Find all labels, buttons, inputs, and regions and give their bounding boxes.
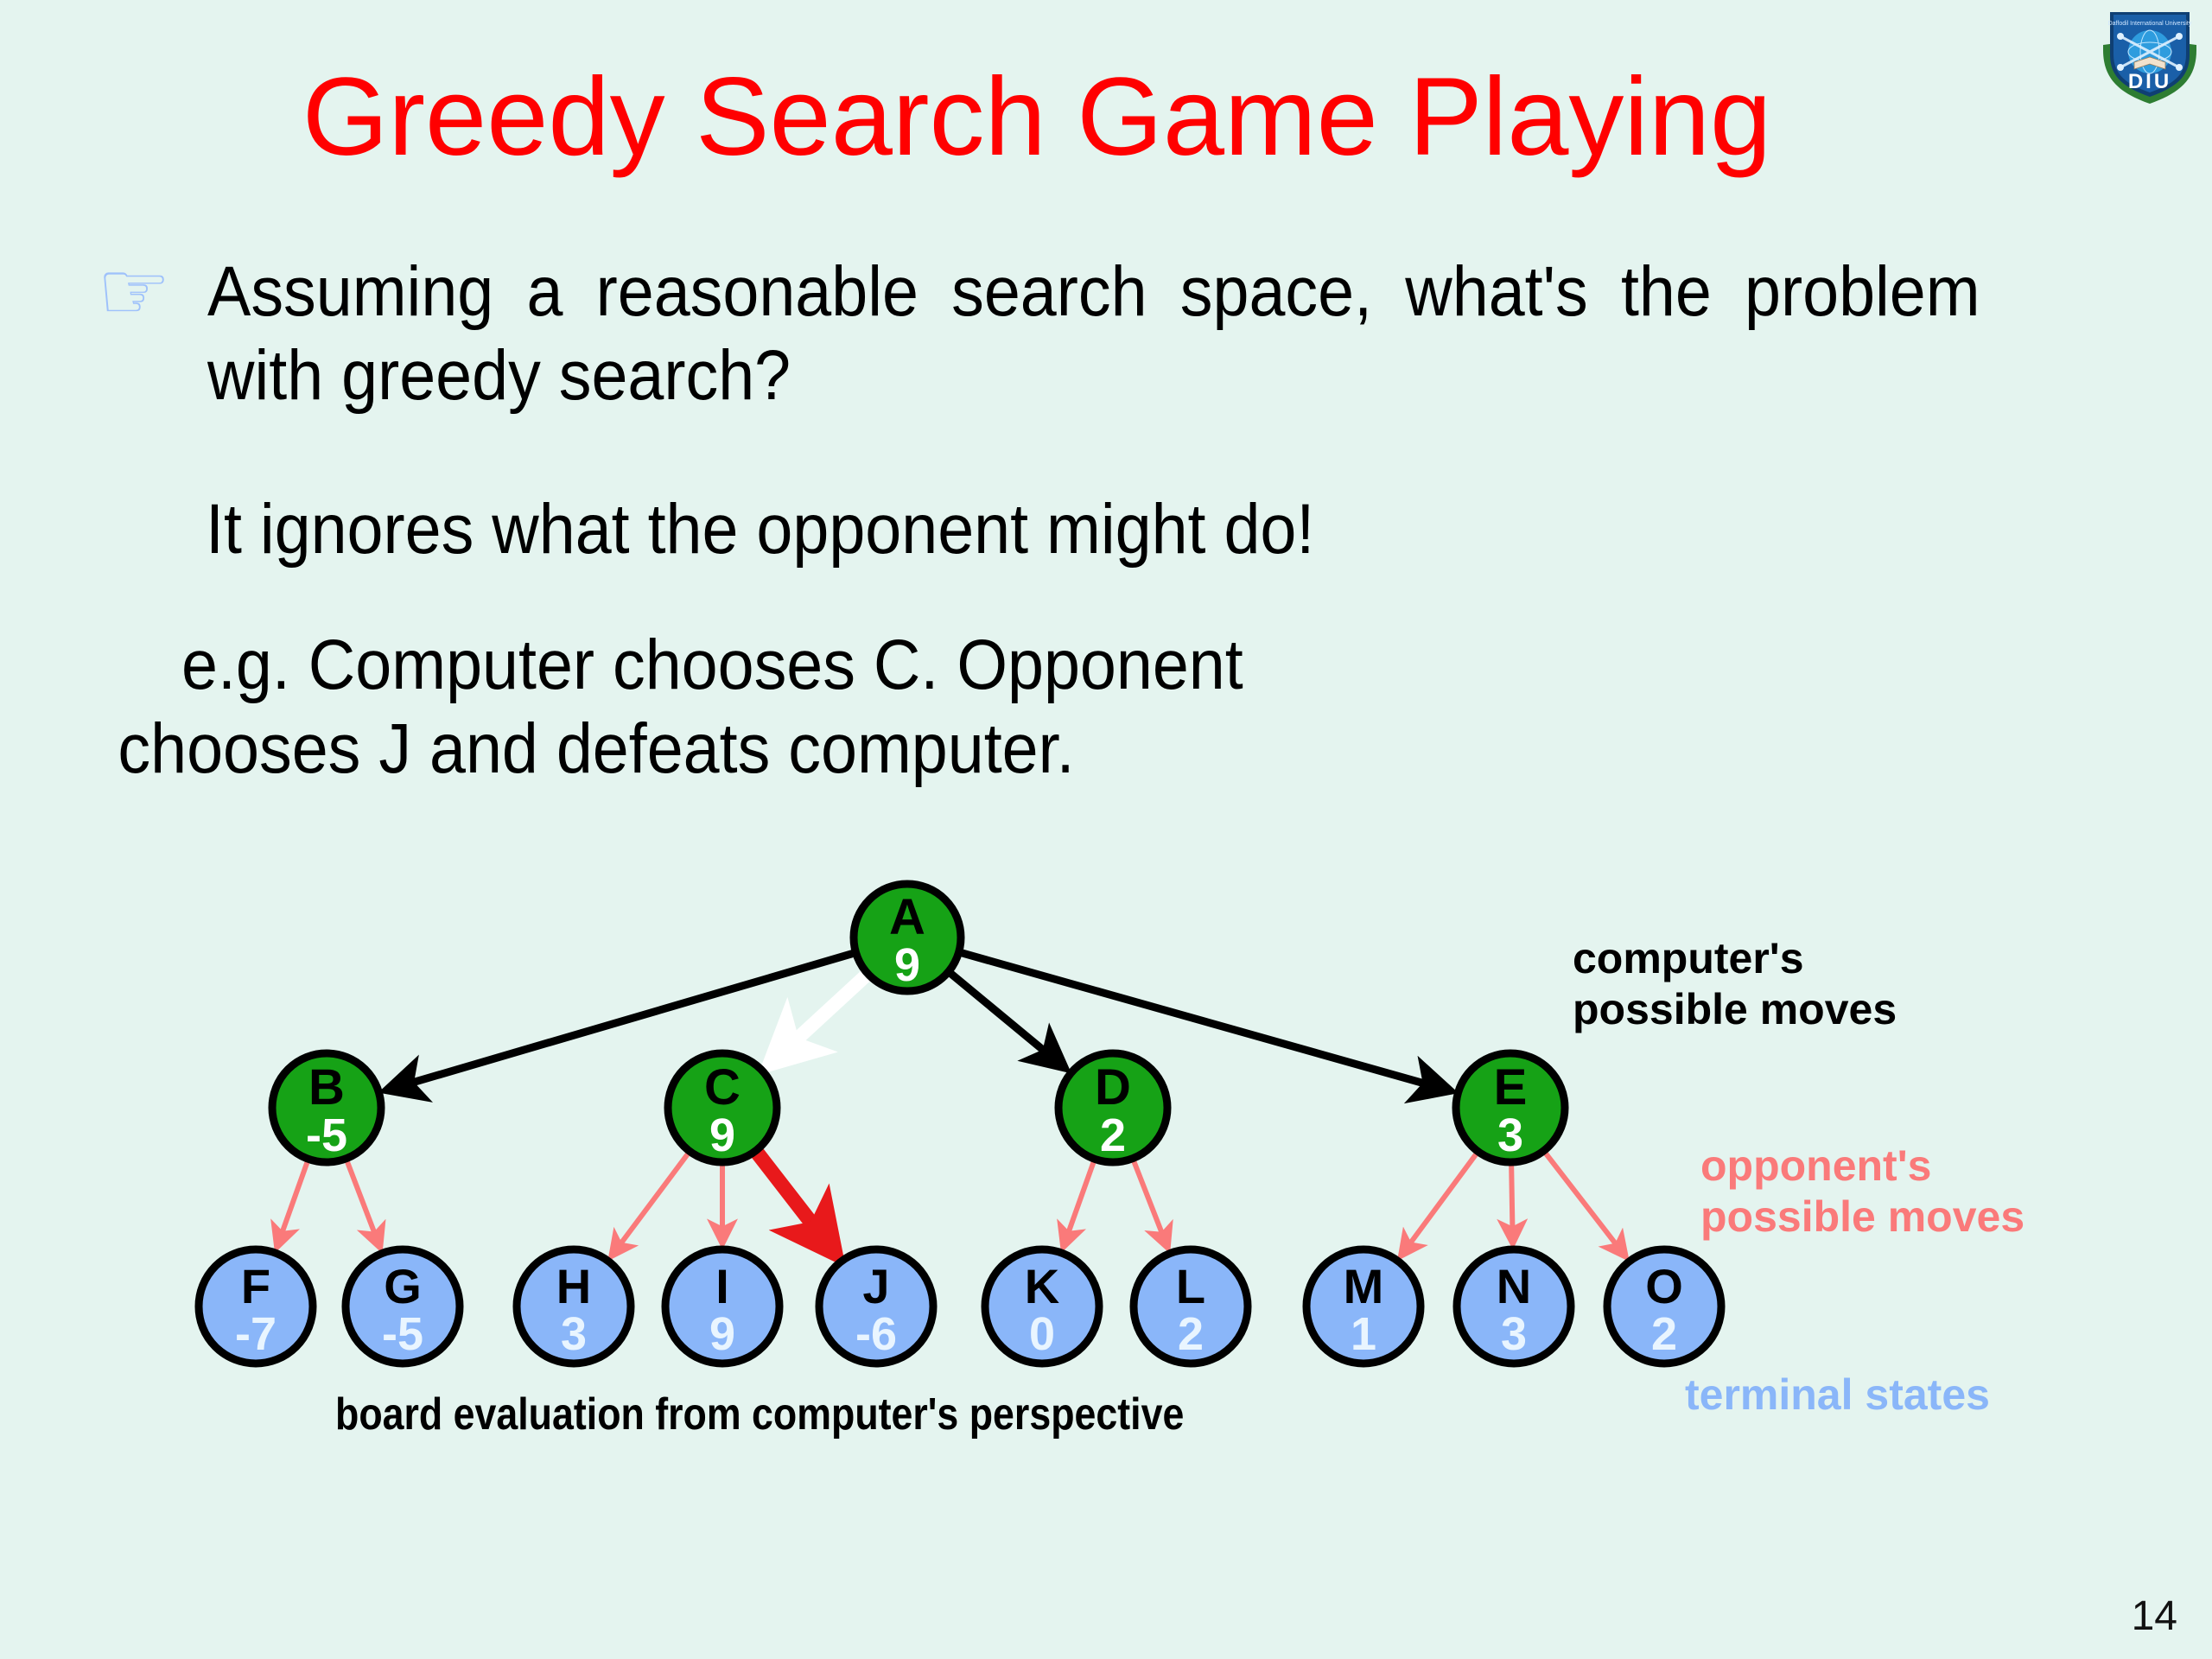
tree-node-g[interactable]: G-5 (346, 1249, 460, 1363)
node-letter: G (384, 1259, 422, 1313)
node-letter: K (1025, 1259, 1059, 1313)
node-value: -5 (306, 1109, 347, 1161)
tree-node-k[interactable]: K0 (985, 1249, 1099, 1363)
node-letter: F (241, 1259, 270, 1313)
svg-text:Daffodil International Univers: Daffodil International University (2108, 21, 2192, 27)
tree-node-a[interactable]: A9 (854, 884, 961, 991)
tree-node-m[interactable]: M1 (1306, 1249, 1421, 1363)
tree-node-b[interactable]: B-5 (272, 1053, 381, 1162)
tree-edge-e-n (1511, 1160, 1513, 1243)
pointing-hand-icon: ☞ (97, 252, 200, 332)
diagram-caption: board evaluation from computer's perspec… (335, 1389, 1184, 1440)
paragraph-example-tail: chooses J and defeats computer. (118, 708, 1986, 791)
tree-node-f[interactable]: F-7 (199, 1249, 313, 1363)
tree-edge-a-d (947, 970, 1065, 1067)
diu-university-logo: Daffodil International University DIU (2094, 2, 2205, 105)
edge-layer (277, 951, 1625, 1255)
slide-canvas: Daffodil International University DIU Gr… (0, 0, 2212, 1659)
node-value: 9 (894, 939, 920, 991)
tree-edge-a-b (387, 952, 857, 1090)
node-letter: B (308, 1059, 345, 1116)
node-letter: M (1344, 1259, 1384, 1313)
node-value: 9 (709, 1109, 735, 1161)
node-letter: L (1176, 1259, 1205, 1313)
tree-edge-a-c (770, 973, 869, 1065)
tree-edge-d-l (1132, 1157, 1167, 1247)
node-value: 2 (1651, 1308, 1677, 1360)
tree-node-n[interactable]: N3 (1457, 1249, 1571, 1363)
node-value: 9 (709, 1308, 735, 1360)
node-value: 3 (1501, 1308, 1527, 1360)
node-value: 2 (1100, 1109, 1126, 1161)
tree-node-i[interactable]: I9 (665, 1249, 779, 1363)
paragraph-question: Assuming a reasonable search space, what… (207, 251, 1980, 418)
tree-edge-b-f (277, 1157, 309, 1246)
node-value: 3 (1497, 1109, 1523, 1161)
tree-node-h[interactable]: H3 (517, 1249, 631, 1363)
node-value: 1 (1351, 1308, 1376, 1360)
node-letter: I (715, 1259, 729, 1313)
diu-logo-icon: Daffodil International University DIU (2094, 2, 2205, 105)
node-letter: E (1494, 1059, 1528, 1116)
tree-edge-a-e (957, 951, 1450, 1090)
node-letter: J (862, 1259, 889, 1313)
tree-node-d[interactable]: D2 (1058, 1053, 1167, 1162)
svg-text:DIU: DIU (2128, 70, 2171, 93)
tree-edge-b-g (346, 1157, 380, 1247)
legend-computer-moves: computer's possible moves (1573, 933, 1897, 1035)
legend-opponent-moves: opponent's possible moves (1700, 1141, 2024, 1243)
paragraph-example-head: e.g. Computer chooses C. Opponent (181, 626, 1243, 704)
node-letter: N (1497, 1259, 1531, 1313)
node-value: 3 (561, 1308, 587, 1360)
node-letter: D (1095, 1059, 1131, 1116)
node-letter: H (556, 1259, 591, 1313)
node-value: -7 (235, 1308, 276, 1360)
page-number: 14 (2132, 1592, 2177, 1640)
tree-edge-e-o (1542, 1149, 1624, 1255)
tree-node-j[interactable]: J-6 (819, 1249, 933, 1363)
tree-node-l[interactable]: L2 (1134, 1249, 1248, 1363)
node-letter: C (704, 1059, 741, 1116)
tree-edge-e-m (1402, 1150, 1479, 1255)
slide-title: Greedy Search Game Playing (0, 62, 2074, 173)
tree-edge-d-k (1064, 1157, 1096, 1246)
tree-node-e[interactable]: E3 (1456, 1053, 1565, 1162)
node-letter: O (1645, 1259, 1683, 1313)
node-value: 0 (1029, 1308, 1055, 1360)
tree-node-o[interactable]: O2 (1607, 1249, 1721, 1363)
tree-edge-c-j (754, 1149, 835, 1253)
node-value: 2 (1178, 1308, 1204, 1360)
node-value: -5 (382, 1308, 423, 1360)
legend-terminal-states: terminal states (1685, 1370, 1990, 1421)
node-value: -6 (855, 1308, 897, 1360)
paragraph-example: e.g. Computer chooses C. Opponent choose… (181, 624, 1986, 791)
tree-edge-c-h (612, 1150, 690, 1255)
tree-node-c[interactable]: C9 (668, 1053, 777, 1162)
node-letter: A (889, 889, 925, 945)
node-layer: A9B-5C9D2E3F-7G-5H3I9J-6K0L2M1N3O2 (199, 884, 1721, 1363)
paragraph-answer: It ignores what the opponent might do! (206, 488, 2034, 572)
